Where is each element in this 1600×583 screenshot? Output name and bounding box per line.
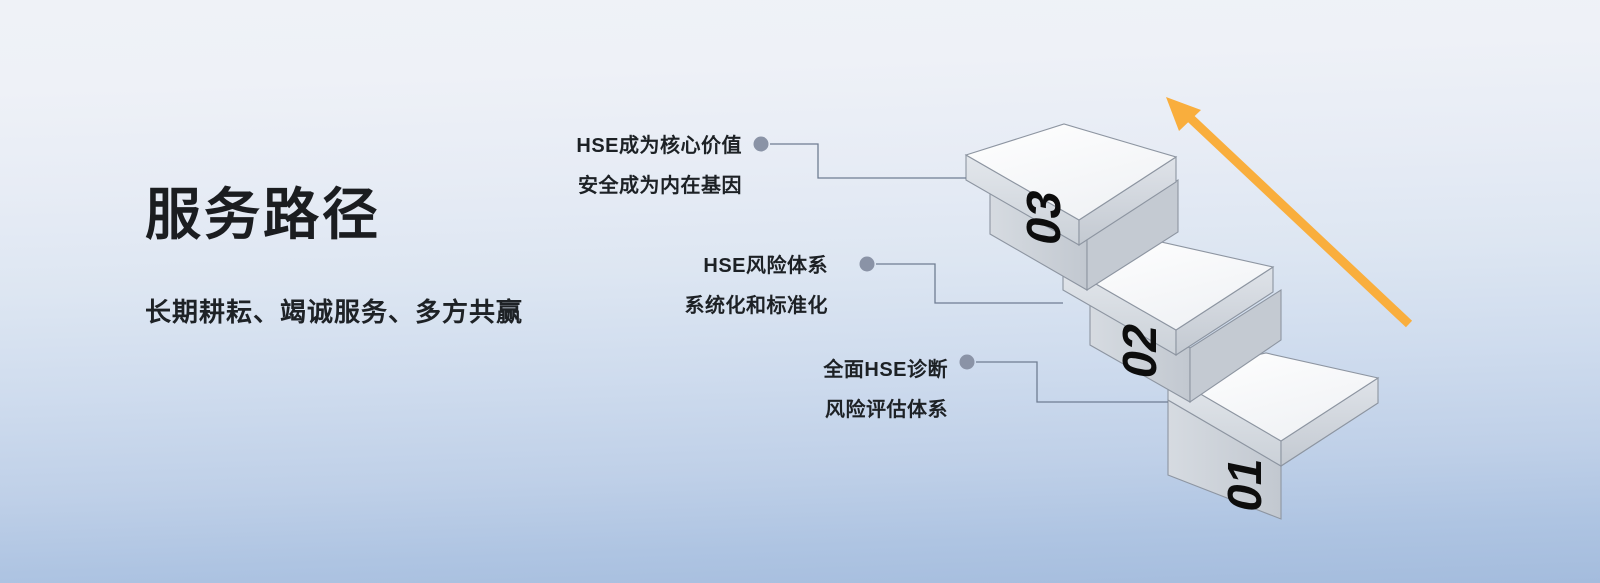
- connector-dot-step-01: [960, 355, 975, 370]
- step-01-number: 01: [1218, 452, 1271, 517]
- callout-step-02: HSE风险体系 系统化和标准化: [480, 246, 828, 326]
- callout-step-03: HSE成为核心价值 安全成为内在基因: [360, 126, 742, 206]
- connector-dot-step-03: [754, 137, 769, 152]
- callout-step-03-line2: 安全成为内在基因: [360, 166, 742, 206]
- connector-line-step-02: [876, 264, 1063, 303]
- callout-step-01-line1: 全面HSE诊断: [600, 350, 948, 390]
- step-03-number: 03: [1017, 185, 1070, 250]
- step-02-number: 02: [1113, 318, 1166, 383]
- callout-step-01: 全面HSE诊断 风险评估体系: [600, 350, 948, 430]
- callout-step-02-line1: HSE风险体系: [480, 246, 828, 286]
- callout-step-02-line2: 系统化和标准化: [480, 286, 828, 326]
- connector-line-step-03: [770, 144, 966, 178]
- connector-dot-step-02: [860, 257, 875, 272]
- callout-step-03-line1: HSE成为核心价值: [360, 126, 742, 166]
- callout-step-01-line2: 风险评估体系: [600, 390, 948, 430]
- slide-canvas: 服务路径 长期耕耘、竭诚服务、多方共赢: [0, 0, 1600, 583]
